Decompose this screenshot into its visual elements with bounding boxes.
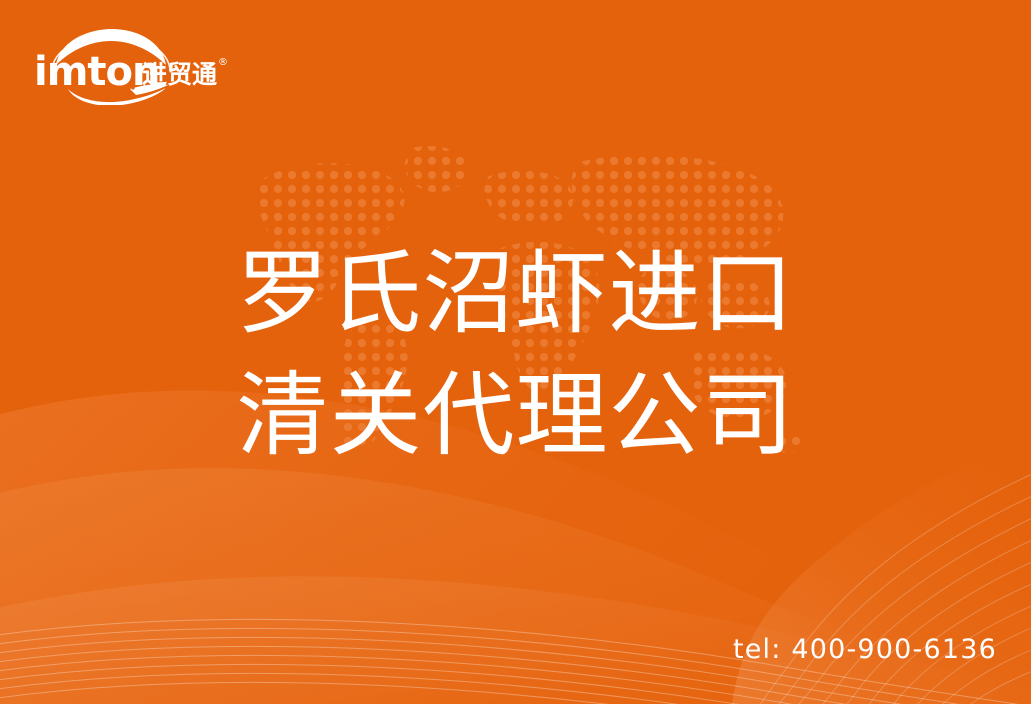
headline-line-2: 清关代理公司	[0, 355, 1031, 477]
headline-line-1: 罗氏沼虾进口	[0, 233, 1031, 355]
brand-logo[interactable]: imton 进贸通 ®	[34, 27, 234, 105]
promo-banner: imton 进贸通 ® 罗氏沼虾进口 清关代理公司 tel: 400-900-6…	[0, 0, 1031, 704]
wave-curve-lower	[0, 468, 1031, 704]
contact-phone[interactable]: tel: 400-900-6136	[733, 636, 997, 663]
trademark-symbol: ®	[218, 57, 228, 68]
page-title: 罗氏沼虾进口 清关代理公司	[0, 233, 1031, 477]
